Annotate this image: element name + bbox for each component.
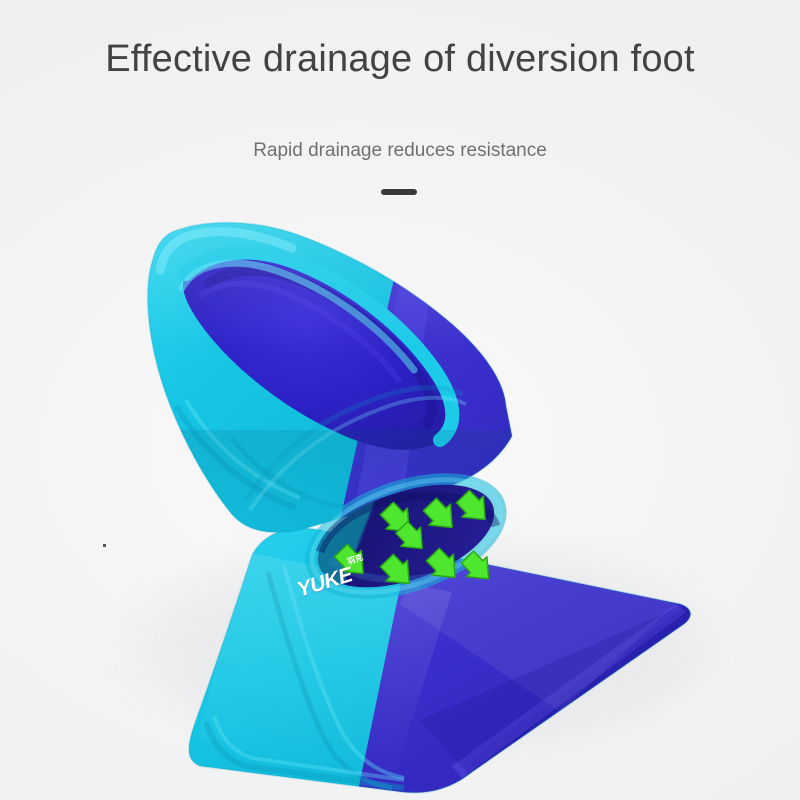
product-photo-stage: YUKE 羽克	[0, 200, 800, 800]
swim-fin-product-image	[0, 200, 800, 800]
page-subheadline: Rapid drainage reduces resistance	[0, 138, 800, 164]
page-headline: Effective drainage of diversion foot	[0, 36, 800, 82]
title-divider	[381, 189, 417, 195]
product-feature-page: Effective drainage of diversion foot Rap…	[0, 0, 800, 800]
